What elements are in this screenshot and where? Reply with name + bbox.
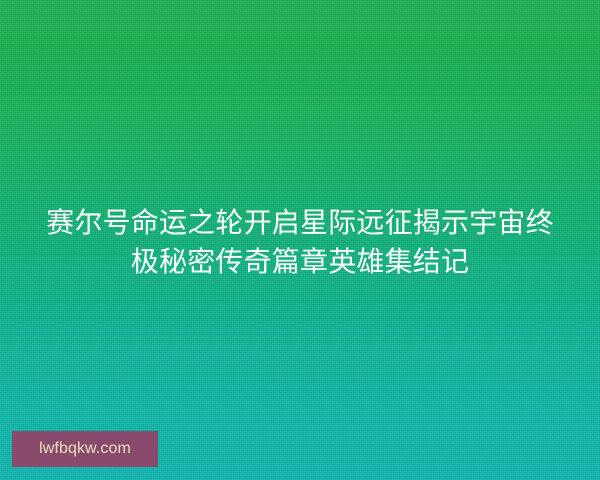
page-title: 赛尔号命运之轮开启星际远征揭示宇宙终 极秘密传奇篇章英雄集结记: [0, 203, 600, 281]
title-line-2: 极秘密传奇篇章英雄集结记: [14, 242, 586, 281]
watermark-badge: lwfbqkw.com: [12, 431, 158, 467]
watermark-url-text: lwfbqkw.com: [39, 441, 131, 457]
cover-image: 赛尔号命运之轮开启星际远征揭示宇宙终 极秘密传奇篇章英雄集结记 lwfbqkw.…: [0, 0, 600, 480]
title-line-1: 赛尔号命运之轮开启星际远征揭示宇宙终: [14, 203, 586, 242]
